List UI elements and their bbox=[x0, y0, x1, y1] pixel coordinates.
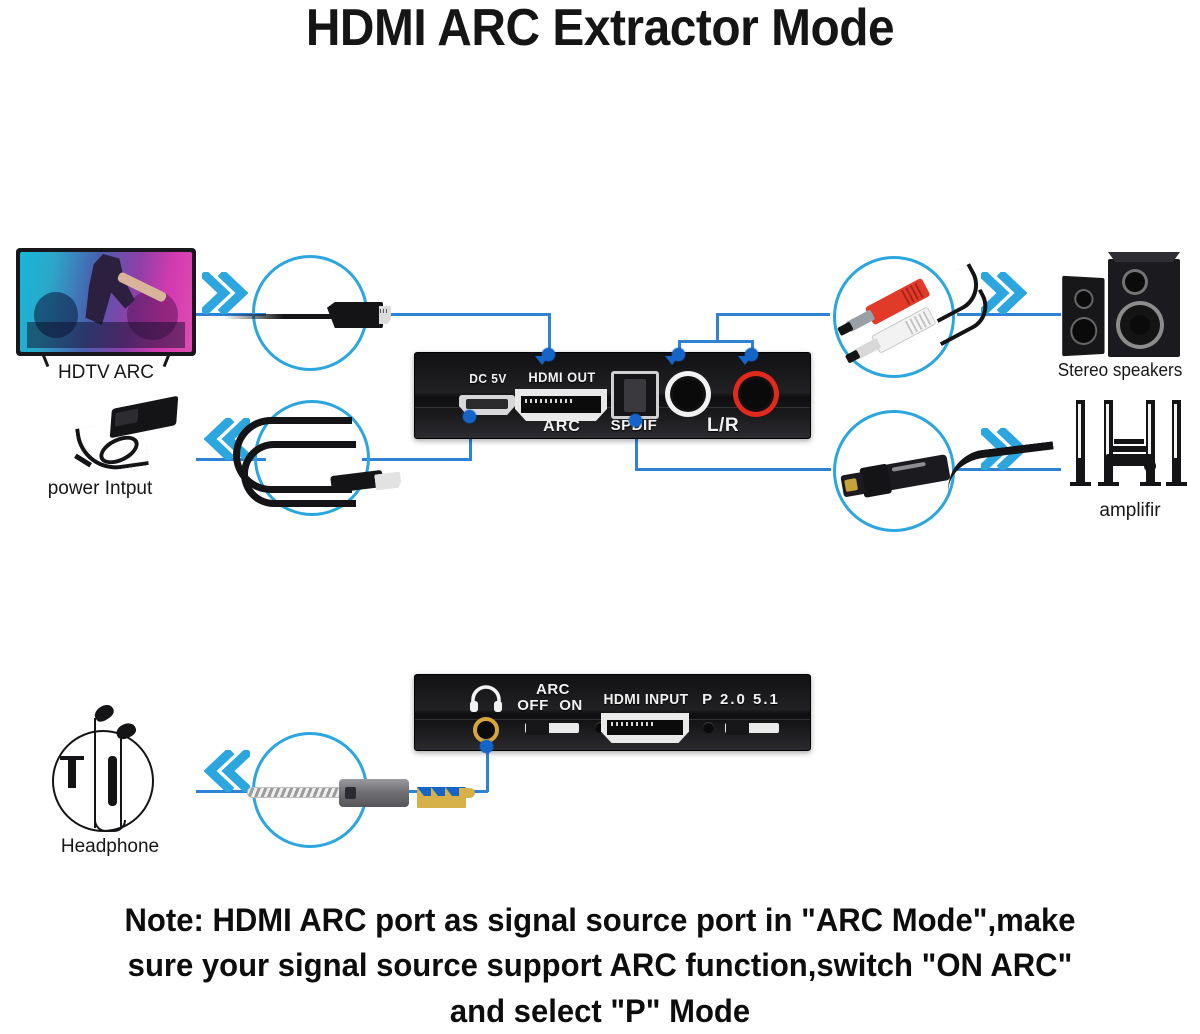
link-rca-stem bbox=[716, 313, 719, 341]
dot-spdif bbox=[629, 414, 642, 427]
port-hdmi-out[interactable] bbox=[515, 389, 607, 421]
label-mode-switch: P 2.0 5.1 bbox=[681, 691, 801, 708]
dot-dc-5v bbox=[463, 410, 476, 423]
dot-headphone-out bbox=[480, 740, 493, 753]
aux-3.5mm-cable-icon bbox=[247, 771, 507, 815]
switch-audio-mode[interactable] bbox=[725, 723, 779, 733]
power-input-label: power Intput bbox=[0, 478, 200, 500]
extractor-back-panel: DC 5V HDMI OUT ARC SPDIF L/R bbox=[414, 352, 811, 439]
port-spdif[interactable] bbox=[611, 371, 659, 419]
amplifier-label: amplifir bbox=[1060, 500, 1200, 522]
usb-power-cable-icon bbox=[233, 411, 413, 507]
chevron-left-icon-headphone bbox=[204, 750, 250, 792]
optical-toslink-cable-icon bbox=[839, 433, 1036, 521]
hdtv-label: HDTV ARC bbox=[6, 362, 206, 384]
port-hdmi-input[interactable] bbox=[601, 713, 689, 743]
hdmi-cable-icon bbox=[223, 296, 403, 336]
stereo-speakers-label: Stereo speakers bbox=[1044, 360, 1196, 381]
port-rca-right[interactable] bbox=[733, 371, 779, 417]
port-label-lr: L/R bbox=[683, 415, 763, 437]
page-title: HDMI ARC Extractor Mode bbox=[48, 0, 1152, 58]
note-block: Note: HDMI ARC port as signal source por… bbox=[60, 898, 1140, 1034]
pin-rca-right bbox=[738, 356, 752, 365]
port-label-arc: ARC bbox=[519, 418, 605, 436]
headphones-icon bbox=[469, 685, 503, 713]
optical-cable-circle bbox=[833, 410, 955, 532]
hdmi-cable-circle bbox=[252, 255, 368, 371]
note-line-1: Note: HDMI ARC port as signal source por… bbox=[76, 898, 1124, 943]
rca-cable-circle bbox=[833, 256, 955, 378]
pin-rca-left bbox=[665, 356, 679, 365]
note-line-3: and select "P" Mode bbox=[76, 989, 1124, 1034]
stereo-speakers-icon bbox=[1062, 255, 1190, 359]
link-spdif-to-optical-circle bbox=[635, 468, 831, 471]
television-icon bbox=[16, 248, 196, 356]
rca-stereo-cable-icon bbox=[833, 254, 1001, 392]
label-arc-switch-title: ARC bbox=[515, 681, 591, 698]
usb-power-cable-circle bbox=[254, 400, 370, 516]
amplifier-icon bbox=[1070, 400, 1186, 496]
aux-cable-circle bbox=[252, 732, 368, 848]
power-adapter-icon bbox=[72, 400, 192, 472]
port-label-hdmi-out: HDMI OUT bbox=[511, 369, 612, 385]
link-rca-to-circle bbox=[716, 313, 830, 316]
note-line-2: sure your signal source support ARC func… bbox=[76, 943, 1124, 988]
earbuds-icon bbox=[42, 706, 174, 828]
diagram-canvas: HDMI ARC Extractor Mode bbox=[0, 0, 1200, 1031]
extractor-front-panel: ARC OFF ON HDMI INPUT P 2.0 5.1 bbox=[414, 674, 811, 751]
headphone-label: Headphone bbox=[20, 836, 200, 858]
switch-arc-onoff[interactable] bbox=[525, 723, 579, 733]
pin-hdmi-out bbox=[535, 356, 549, 365]
port-rca-left[interactable] bbox=[665, 371, 711, 417]
